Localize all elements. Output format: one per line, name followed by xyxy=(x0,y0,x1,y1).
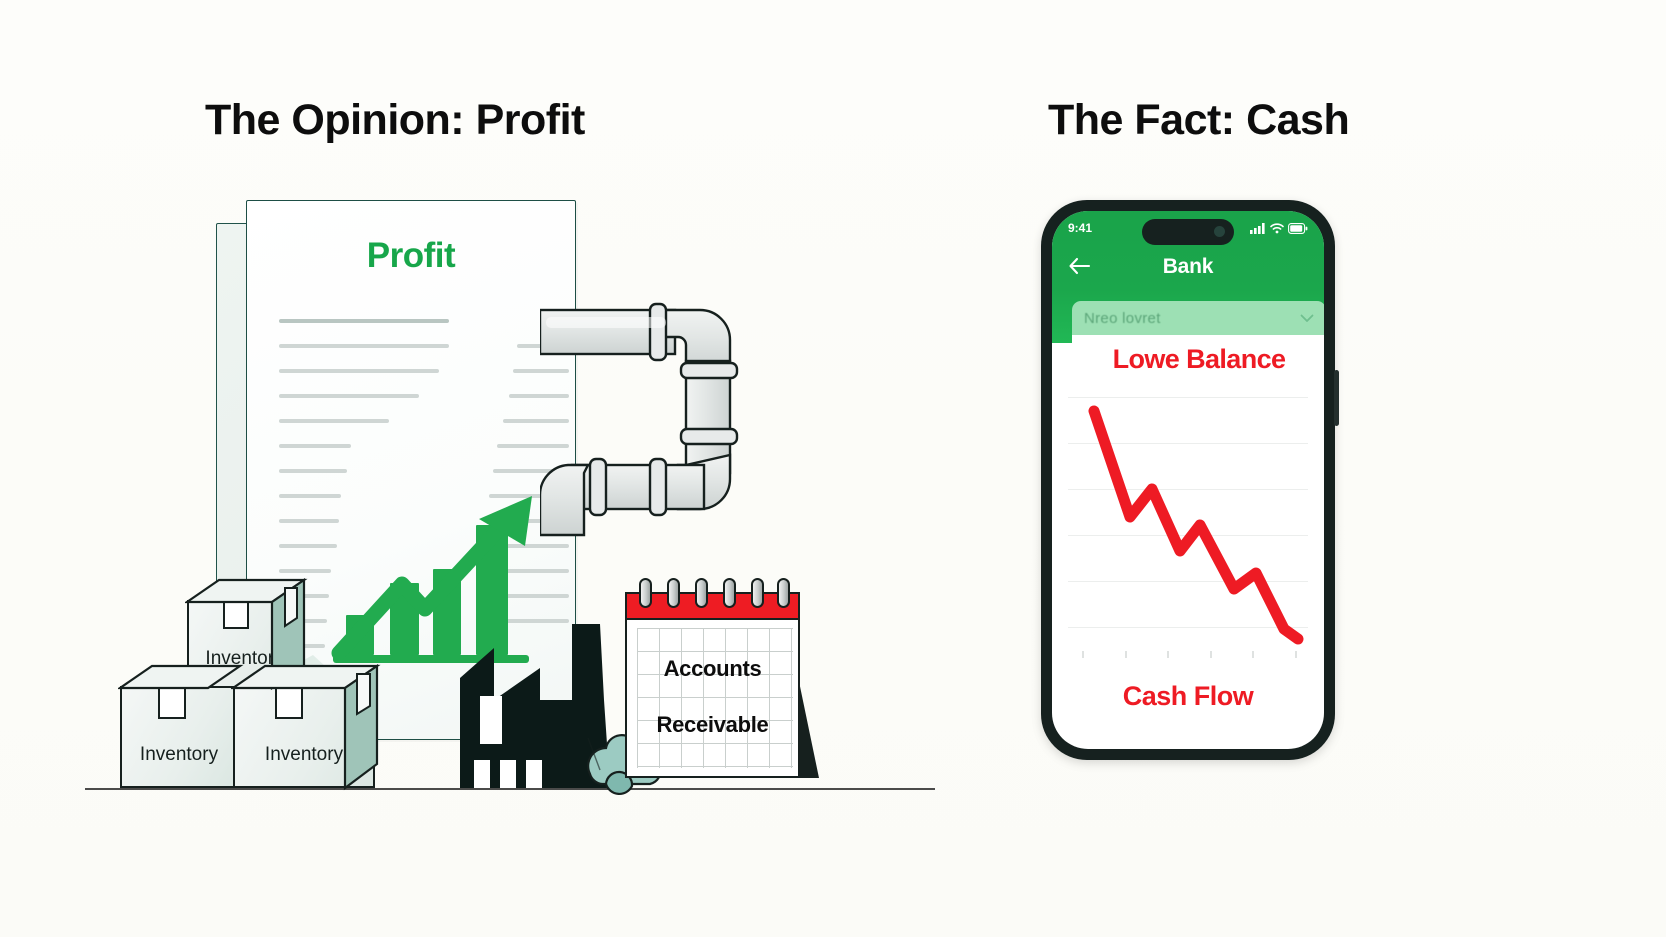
chart-x-ticks xyxy=(1082,651,1297,658)
app-nav-bar: Bank xyxy=(1052,245,1324,289)
calendar-ring xyxy=(723,578,736,608)
phone-screen: 9:41 xyxy=(1052,211,1324,749)
calendar-ring xyxy=(777,578,790,608)
cash-flow-label: Cash Flow xyxy=(1052,681,1324,712)
calendar-ring xyxy=(639,578,652,608)
dynamic-island xyxy=(1142,219,1234,245)
bank-app-phone: 9:41 xyxy=(1041,200,1335,760)
chevron-down-icon xyxy=(1300,314,1314,323)
front-camera-icon xyxy=(1214,226,1225,237)
cash-flow-line-series xyxy=(1052,383,1324,663)
signal-icon xyxy=(1250,223,1266,234)
app-title: Bank xyxy=(1052,255,1324,279)
account-dropdown-value: Nreo lovret xyxy=(1084,310,1161,327)
calendar-date-grid xyxy=(637,628,793,768)
right-panel-heading: The Fact: Cash xyxy=(1048,96,1349,145)
calendar-line-2: Receivable xyxy=(627,712,798,738)
opinion-profit-scene: Profit xyxy=(0,0,950,937)
phone-side-button[interactable] xyxy=(1334,370,1339,426)
status-bar-time: 9:41 xyxy=(1068,221,1092,235)
pipe-system-icon xyxy=(540,295,770,565)
low-balance-alert: Lowe Balance xyxy=(1072,335,1324,383)
calendar-ring xyxy=(751,578,764,608)
back-arrow-icon[interactable] xyxy=(1068,256,1092,276)
inventory-box-right-3d-faces xyxy=(231,664,411,794)
cash-flow-chart xyxy=(1052,383,1324,683)
account-dropdown[interactable]: Nreo lovret xyxy=(1072,301,1324,335)
calendar-body: Accounts Receivable xyxy=(625,592,800,778)
low-balance-alert-text: Lowe Balance xyxy=(1113,344,1286,375)
battery-icon xyxy=(1288,223,1308,234)
accounts-receivable-calendar: Accounts Receivable xyxy=(625,578,810,778)
calendar-ring xyxy=(695,578,708,608)
calendar-header-band xyxy=(627,594,798,620)
wifi-icon xyxy=(1270,223,1284,234)
inventory-box-left-3d-faces xyxy=(118,664,248,794)
illustration-canvas: The Opinion: Profit The Fact: Cash Profi… xyxy=(0,0,1666,937)
calendar-ring xyxy=(667,578,680,608)
calendar-line-1: Accounts xyxy=(627,656,798,682)
